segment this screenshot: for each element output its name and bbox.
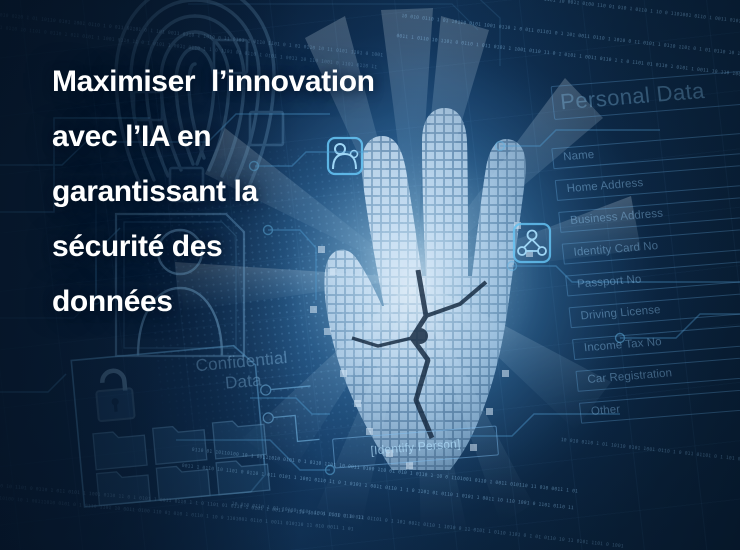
field-row-driving-license[interactable]: Driving License [569,289,740,328]
headline-line-3: garantissant la [52,164,422,219]
identify-person-label: [Identify Person] [370,436,461,457]
headline-line-2: avec l’IA en [52,109,422,164]
field-label-passport-no: Passport No [577,273,643,290]
field-label-identity-card-no: Identity Card No [573,240,659,259]
field-label-business-address: Business Address [570,208,664,227]
hero-banner: Confidential Data [0,0,740,550]
field-row-business-address[interactable]: Business Address [558,194,740,233]
field-row-home-address[interactable]: Home Address [555,162,740,201]
headline-line-4: sécurité des [52,219,422,274]
field-label-name: Name [563,149,595,163]
field-label-driving-license: Driving License [580,304,661,322]
headline-line-1: Maximiser l’innovation [52,54,422,109]
field-label-car-registration: Car Registration [587,367,673,386]
field-row-identity-card-no[interactable]: Identity Card No [562,226,740,265]
headline-line-5: données [52,274,422,329]
field-row-other[interactable]: Other [579,385,740,424]
field-label-home-address: Home Address [566,177,644,195]
field-row-passport-no[interactable]: Passport No [565,258,740,297]
headline: Maximiser l’innovation avec l’IA en gara… [52,54,422,329]
field-row-car-registration[interactable]: Car Registration [575,353,740,392]
field-row-name[interactable]: Name [551,130,740,169]
field-label-income-tax-no: Income Tax No [583,336,662,354]
field-row-income-tax-no[interactable]: Income Tax No [572,321,740,360]
field-label-other: Other [590,404,620,418]
